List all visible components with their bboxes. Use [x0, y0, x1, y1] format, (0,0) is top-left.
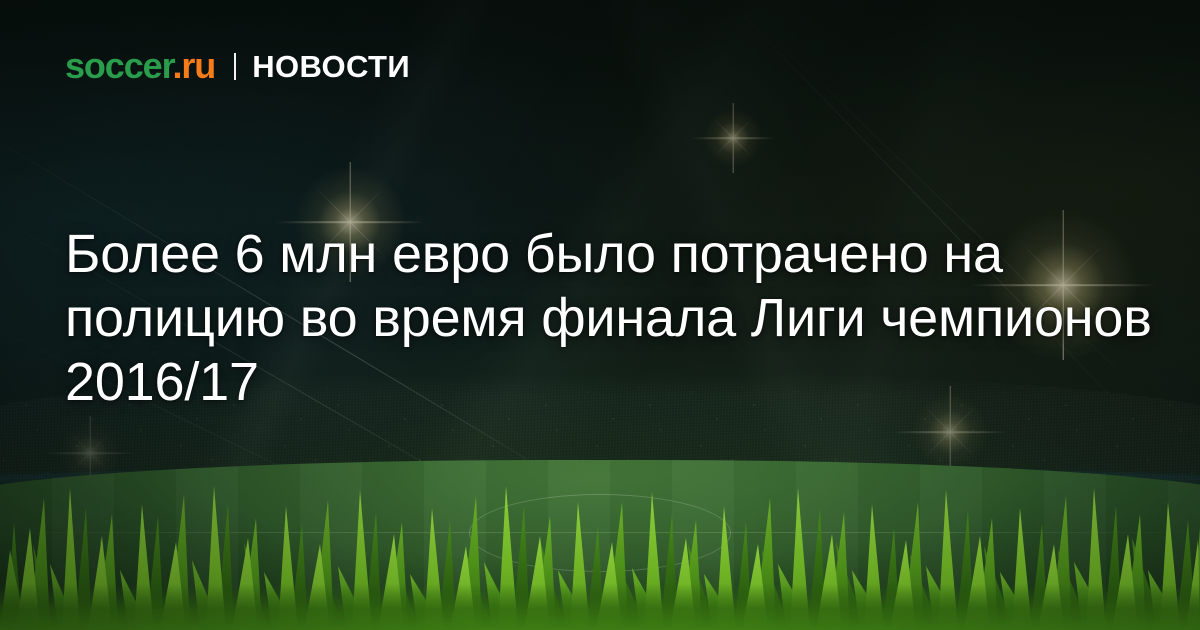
brand-divider [234, 53, 236, 80]
site-logo[interactable]: soccer.ru [65, 48, 215, 84]
card-content: soccer.ru НОВОСТИ Более 6 млн евро было … [0, 0, 1200, 630]
brand-bar[interactable]: soccer.ru НОВОСТИ [65, 48, 410, 84]
section-label-novosti: НОВОСТИ [252, 51, 410, 82]
news-share-card: soccer.ru НОВОСТИ Более 6 млн евро было … [0, 0, 1200, 630]
logo-text-ru: .ru [173, 45, 216, 86]
logo-text-soccer: soccer [65, 45, 173, 86]
article-headline: Более 6 млн евро было потрачено на полиц… [65, 222, 1155, 414]
